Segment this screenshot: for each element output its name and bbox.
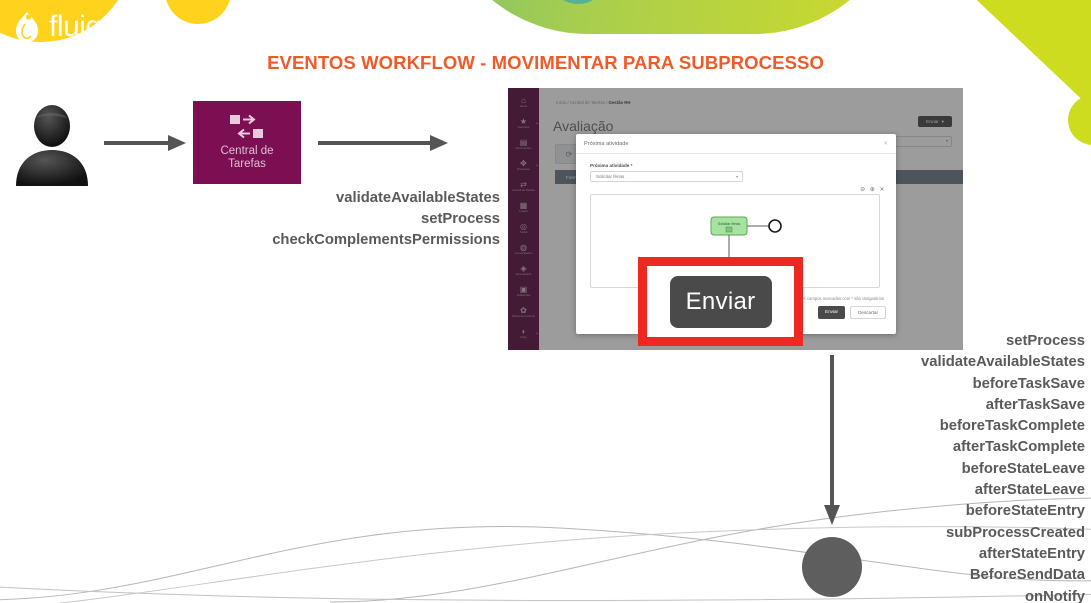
event-item: beforeTaskSave [755,374,1085,395]
transfer-exchange-icon [227,114,267,140]
modal-button-row: Enviar Descartar [818,306,886,319]
lime-circle-decoration [1068,95,1091,145]
event-item: afterTaskComplete [755,437,1085,458]
proxima-atividade-label: Próxima atividade * [590,163,632,168]
event-item: validateAvailableStates [755,352,1085,373]
modal-header: Próxima atividade ✕ [576,134,896,154]
diagram-zoom-tools[interactable]: ⊖ ⊕ ✕ [860,186,886,193]
arrow-user-to-tasks [104,132,186,154]
subprocess-node-circle [802,537,862,597]
close-icon[interactable]: ✕ [883,141,888,147]
user-silhouette-icon [10,104,95,186]
teal-dot-decoration [556,0,600,4]
events-left-list: validateAvailableStates setProcess check… [120,188,500,251]
arrow-down-to-subprocess [820,355,844,525]
logo-text: fluig [49,10,102,44]
fluig-logo: fluig [12,10,102,44]
event-item: beforeTaskComplete [755,416,1085,437]
event-item: afterStateLeave [755,480,1085,501]
required-fields-note: Os campos marcados com * são obrigatório… [800,296,884,301]
select-value: Solicitar férias [596,174,624,179]
event-item: setProcess [120,209,500,230]
event-item: checkComplementsPermissions [120,230,500,251]
enviar-highlight-button[interactable]: Enviar [670,276,772,328]
yellow-circle-decoration [165,0,231,24]
event-item: afterTaskSave [755,395,1085,416]
enviar-callout: Enviar [638,257,803,346]
tile-label-line2: Tarefas [220,158,273,171]
green-swoop-decoration [436,0,906,34]
modal-descartar-button[interactable]: Descartar [850,306,886,319]
tile-label-line1: Central de [220,145,273,158]
proxima-atividade-select[interactable]: Solicitar férias [590,171,743,182]
svg-text:Solicitar férias: Solicitar férias [718,222,741,226]
event-item: onNotify [755,587,1085,603]
event-item: beforeStateEntry [755,501,1085,522]
slide-canvas: fluig EVENTOS WORKFLOW - MOVIMENTAR PARA… [0,0,1091,603]
event-item: validateAvailableStates [120,188,500,209]
event-item: subProcessCreated [755,523,1085,544]
modal-title: Próxima atividade [584,141,628,147]
page-title: EVENTOS WORKFLOW - MOVIMENTAR PARA SUBPR… [0,52,1091,74]
central-de-tarefas-tile[interactable]: Central de Tarefas [193,101,301,184]
modal-enviar-button[interactable]: Enviar [818,306,845,319]
arrow-tasks-to-screen [318,132,448,154]
fluig-flame-icon [12,10,42,44]
event-item: beforeStateLeave [755,459,1085,480]
